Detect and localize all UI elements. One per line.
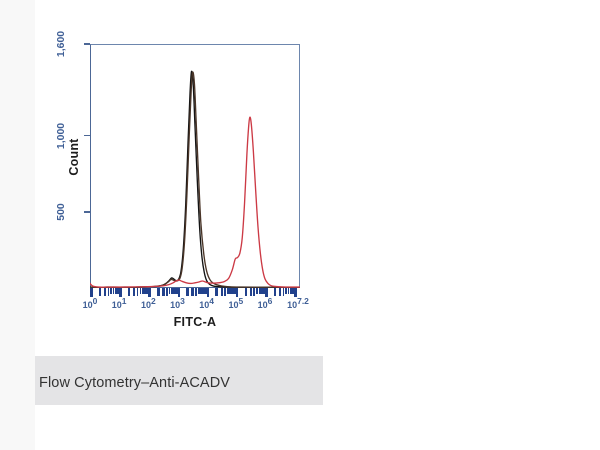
x-axis-minor-tick: [147, 288, 149, 294]
histogram-curves: [90, 44, 300, 288]
x-axis-minor-tick: [205, 288, 207, 294]
x-axis-tick-label: 107.2: [287, 300, 309, 310]
x-axis-tick-label: 101: [112, 300, 127, 310]
x-axis-minor-tick: [118, 288, 120, 294]
x-axis-minor-tick: [264, 288, 266, 294]
x-axis-minor-tick: [176, 288, 178, 294]
x-axis-tick-label: 100: [83, 300, 98, 310]
x-axis-minor-tick: [253, 288, 255, 296]
x-axis-minor-tick: [157, 288, 159, 296]
x-axis-minor-tick: [191, 288, 193, 296]
y-axis-tick-label: 1,600: [55, 21, 67, 67]
histogram-curve: [90, 72, 300, 287]
x-axis-minor-tick: [215, 288, 217, 296]
x-axis-minor-tick: [128, 288, 130, 296]
x-axis-minor-tick: [224, 288, 226, 296]
x-axis-tick-label: 104: [199, 300, 214, 310]
page-left-gutter: [0, 0, 36, 450]
page-content: Count 1,6001,000500 10010110210310410510…: [35, 0, 600, 450]
x-axis-minor-tick: [234, 288, 236, 294]
x-axis-minor-tick: [293, 288, 295, 294]
x-axis-minor-tick: [108, 288, 110, 296]
x-axis-tick-label: 105: [228, 300, 243, 310]
x-axis-minor-tick: [245, 288, 247, 296]
y-axis-tick-label: 1,000: [55, 113, 67, 159]
x-axis-minor-tick: [221, 288, 223, 296]
x-axis-minor-tick: [283, 288, 285, 296]
x-axis-tick-label: 106: [258, 300, 273, 310]
x-axis-minor-tick: [133, 288, 135, 296]
x-axis-minor-tick: [104, 288, 106, 296]
histogram-curve: [90, 117, 300, 287]
x-axis-minor-tick: [186, 288, 188, 296]
x-axis-minor-tick: [279, 288, 281, 296]
x-axis-tick-label: 102: [141, 300, 156, 310]
x-axis-tick-label: 103: [170, 300, 185, 310]
x-axis-minor-tick: [166, 288, 168, 296]
flow-cytometry-chart: Count 1,6001,000500 10010110210310410510…: [35, 0, 335, 340]
x-axis-title: FITC-A: [90, 315, 300, 329]
x-axis-minor-tick: [137, 288, 139, 296]
x-axis-minor-tick: [195, 288, 197, 296]
figure-page: Count 1,6001,000500 10010110210310410510…: [0, 0, 600, 450]
x-axis-minor-tick: [162, 288, 164, 296]
y-axis-title: Count: [67, 117, 81, 197]
x-axis-minor-tick: [250, 288, 252, 296]
y-axis-tick-label: 500: [55, 189, 67, 235]
figure-caption: Flow Cytometry–Anti-ACADV: [39, 375, 230, 391]
x-axis-minor-tick: [274, 288, 276, 296]
x-axis-minor-tick: [99, 288, 101, 296]
